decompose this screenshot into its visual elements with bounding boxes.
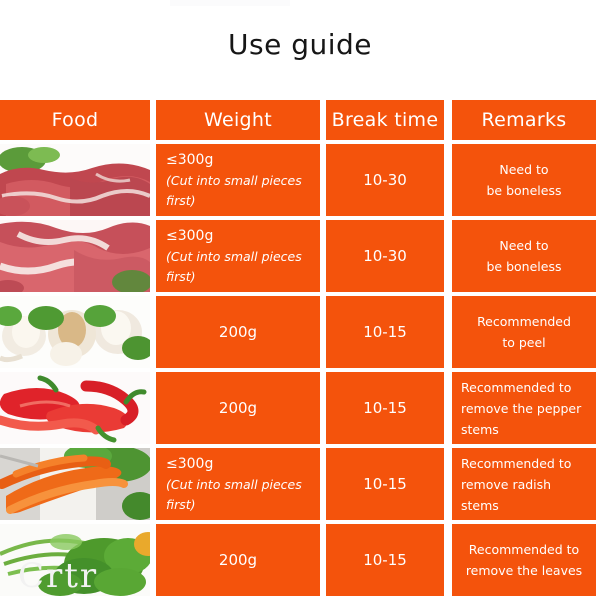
- weight-cell: 200g: [156, 372, 320, 444]
- remarks-cell: Recommended toremove the pepperstems: [452, 372, 596, 444]
- remarks-line: remove the pepper: [461, 398, 581, 419]
- use-guide-table: Food Weight Break time Remarks ≤300g(Cut…: [0, 100, 600, 600]
- beef-slices-photo: [0, 144, 150, 216]
- remarks-line: to peel: [502, 332, 545, 353]
- top-edge-artifact: [170, 0, 290, 6]
- break-time-value: 10-30: [363, 171, 407, 189]
- break-time-cell: 10-15: [326, 372, 444, 444]
- remarks-line: remove the leaves: [466, 560, 582, 581]
- break-time-value: 10-15: [363, 475, 407, 493]
- remarks-line: Need to: [499, 235, 548, 256]
- table-row: ≤300g(Cut into small pieces first)10-30N…: [0, 220, 600, 292]
- remarks-line: be boneless: [487, 180, 562, 201]
- table-header-row: Food Weight Break time Remarks: [0, 100, 600, 140]
- remarks-cell: Recommendedto peel: [452, 296, 596, 368]
- weight-value: ≤300g: [166, 149, 213, 171]
- remarks-line: stems: [461, 419, 499, 440]
- food-photo-cell: [0, 372, 150, 444]
- remarks-line: Need to: [499, 159, 548, 180]
- break-time-value: 10-15: [363, 551, 407, 569]
- remarks-cell: Recommended toremove the leaves: [452, 524, 596, 596]
- remarks-line: Recommended to: [461, 377, 571, 398]
- break-time-value: 10-30: [363, 247, 407, 265]
- remarks-cell: Need tobe boneless: [452, 144, 596, 216]
- weight-cell: ≤300g(Cut into small pieces first): [156, 448, 320, 520]
- watermark: Crtr: [18, 556, 98, 596]
- weight-value: 200g: [219, 550, 257, 570]
- break-time-value: 10-15: [363, 323, 407, 341]
- break-time-value: 10-15: [363, 399, 407, 417]
- remarks-cell: Recommended toremove radishstems: [452, 448, 596, 520]
- remarks-line: Recommended: [477, 311, 571, 332]
- garlic-bulbs-photo: [0, 296, 150, 368]
- break-time-cell: 10-15: [326, 448, 444, 520]
- weight-note: (Cut into small pieces first): [166, 171, 310, 211]
- column-header-food: Food: [0, 100, 150, 140]
- weight-value: 200g: [219, 398, 257, 418]
- remarks-line: stems: [461, 495, 499, 516]
- table-row: 200g10-15Recommended toremove the pepper…: [0, 372, 600, 444]
- weight-cell: ≤300g(Cut into small pieces first): [156, 144, 320, 216]
- food-photo-cell: [0, 296, 150, 368]
- table-row: 200g10-15Recommendedto peel: [0, 296, 600, 368]
- remarks-line: remove radish: [461, 474, 551, 495]
- red-chili-peppers-photo: [0, 372, 150, 444]
- remarks-line: be boneless: [487, 256, 562, 277]
- page-title: Use guide: [0, 28, 600, 62]
- break-time-cell: 10-15: [326, 524, 444, 596]
- food-photo-cell: [0, 220, 150, 292]
- weight-value: ≤300g: [166, 225, 213, 247]
- pork-chops-photo: [0, 220, 150, 292]
- table-row: ≤300g(Cut into small pieces first)10-30N…: [0, 144, 600, 216]
- weight-value: 200g: [219, 322, 257, 342]
- weight-note: (Cut into small pieces first): [166, 475, 310, 515]
- break-time-cell: 10-30: [326, 220, 444, 292]
- remarks-line: Recommended to: [469, 539, 579, 560]
- weight-cell: ≤300g(Cut into small pieces first): [156, 220, 320, 292]
- weight-cell: 200g: [156, 296, 320, 368]
- carrots-photo: [0, 448, 150, 520]
- remarks-cell: Need tobe boneless: [452, 220, 596, 292]
- column-header-weight: Weight: [156, 100, 320, 140]
- weight-cell: 200g: [156, 524, 320, 596]
- table-body: ≤300g(Cut into small pieces first)10-30N…: [0, 144, 600, 596]
- break-time-cell: 10-30: [326, 144, 444, 216]
- food-photo-cell: [0, 448, 150, 520]
- column-header-remarks: Remarks: [452, 100, 596, 140]
- weight-note: (Cut into small pieces first): [166, 247, 310, 287]
- column-header-break-time: Break time: [326, 100, 444, 140]
- break-time-cell: 10-15: [326, 296, 444, 368]
- table-row: ≤300g(Cut into small pieces first)10-15R…: [0, 448, 600, 520]
- food-photo-cell: [0, 144, 150, 216]
- remarks-line: Recommended to: [461, 453, 571, 474]
- weight-value: ≤300g: [166, 453, 213, 475]
